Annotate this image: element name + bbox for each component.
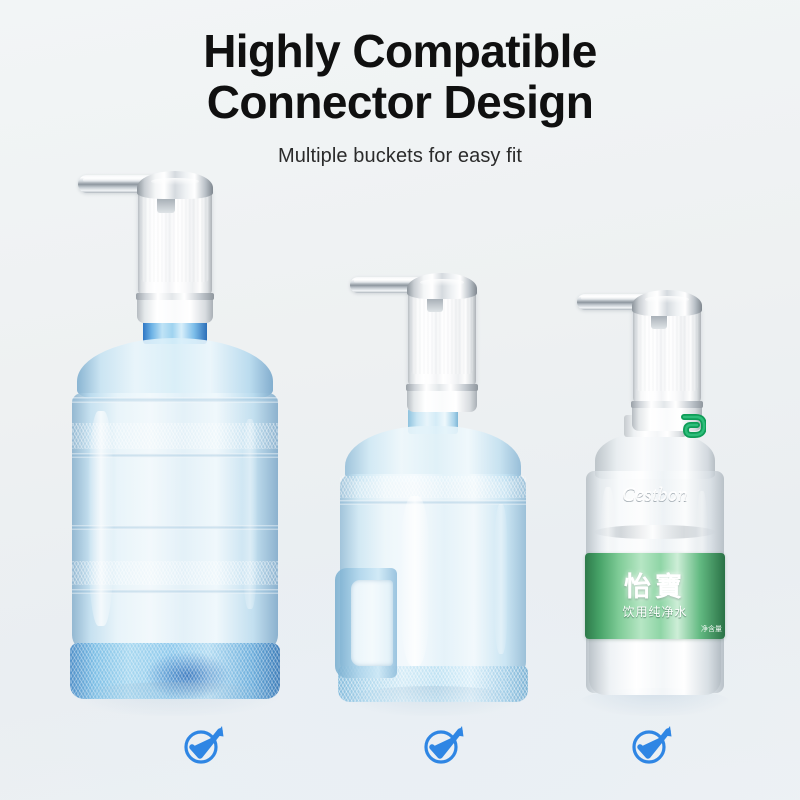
- label-volume: 净含量: [701, 624, 722, 634]
- bottle-label: 怡寶 饮用纯净水 净含量: [585, 553, 725, 639]
- cap-hook-icon: [680, 413, 706, 445]
- dispenser-pump-large: [115, 165, 235, 330]
- pump-top-cap: [407, 273, 477, 299]
- bottle-rib: [72, 397, 278, 403]
- pump-chrome-band: [406, 384, 478, 391]
- pump-collar: [137, 299, 213, 323]
- pump-top-cap: [137, 171, 213, 199]
- pump-top-cap: [632, 290, 702, 316]
- compatibility-check-badge-2: [422, 722, 466, 766]
- bottle-rib: [72, 525, 278, 530]
- headline-line-2: Connector Design: [0, 77, 800, 128]
- product-bottle-medium: [325, 268, 540, 710]
- bottle-rib: [72, 453, 278, 458]
- pump-body: [138, 185, 212, 295]
- glass-highlight: [242, 419, 258, 609]
- product-feature-poster: Highly Compatible Connector Design Multi…: [0, 0, 800, 800]
- product-bottle-large: [55, 165, 295, 710]
- headline-block: Highly Compatible Connector Design Multi…: [0, 26, 800, 168]
- headline-line-1: Highly Compatible: [0, 26, 800, 77]
- brand-emboss: Cestbon: [586, 485, 724, 507]
- label-subtitle-cn: 饮用纯净水: [622, 605, 687, 619]
- glass-highlight: [400, 496, 430, 666]
- bottle-swirl: [594, 525, 715, 539]
- bottle-body-large: [72, 393, 278, 651]
- bottle-knurl-band: [340, 476, 526, 498]
- bottle-shoulder-large: [77, 338, 273, 400]
- bottle-handle-opening: [351, 580, 393, 666]
- bottle-rib: [340, 500, 526, 505]
- pump-collar: [407, 390, 477, 412]
- page-title: Highly Compatible Connector Design: [0, 26, 800, 128]
- bottle-rib: [72, 589, 278, 594]
- bottle-knurl-band: [72, 423, 278, 449]
- label-brand-cn: 怡寶: [624, 573, 686, 603]
- compatibility-check-badge-3: [630, 722, 674, 766]
- dispenser-pump-medium: [387, 268, 497, 418]
- floor-reflection-large: [70, 682, 280, 716]
- glass-highlight: [494, 504, 508, 654]
- floor-reflection-medium: [343, 686, 523, 716]
- glass-highlight: [88, 411, 114, 626]
- pump-chrome-band: [631, 401, 703, 408]
- pump-body: [633, 303, 701, 403]
- pump-chrome-band: [136, 293, 214, 300]
- bottle-base-small: [589, 633, 721, 695]
- bottle-knurl-band: [72, 561, 278, 585]
- compatibility-check-badge-1: [182, 722, 226, 766]
- product-bottle-small: Cestbon 怡寶 饮用纯净水 净含量: [560, 285, 750, 710]
